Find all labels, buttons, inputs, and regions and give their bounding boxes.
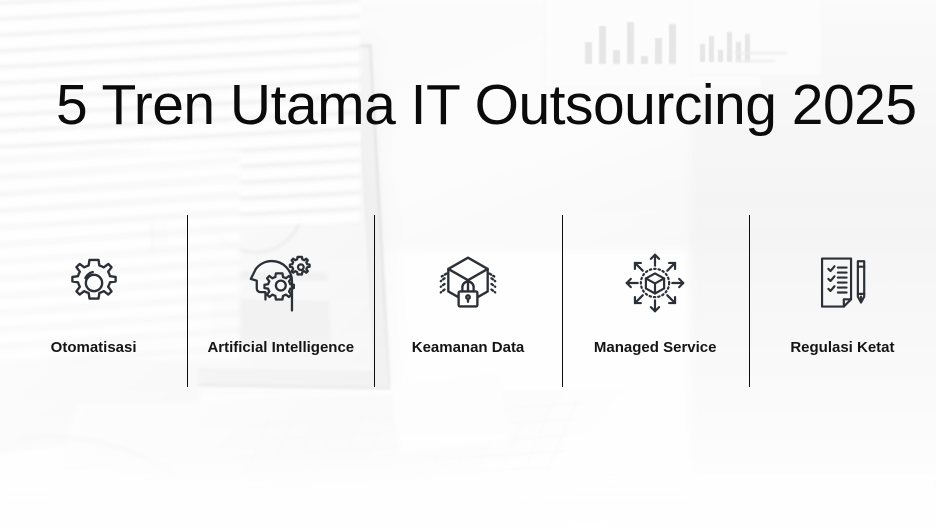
trend-label: Artificial Intelligence [207,339,354,356]
trend-item-managed-service[interactable]: Managed Service [562,215,749,387]
trend-item-artificial-intelligence[interactable]: Artificial Intelligence [187,215,374,387]
trend-item-otomatisasi[interactable]: Otomatisasi [0,215,187,387]
ai-head-gear-icon [249,233,313,333]
gear-icon [65,233,123,333]
trend-label: Keamanan Data [412,339,525,356]
slide-title: 5 Tren Utama IT Outsourcing 2025 [56,76,917,136]
trend-columns: Otomatisasi Artificial Intelligence [0,215,936,387]
slide-content: 5 Tren Utama IT Outsourcing 2025 Otomati… [0,0,936,528]
trend-label: Managed Service [594,339,717,356]
trend-item-regulasi-ketat[interactable]: Regulasi Ketat [749,215,936,387]
trend-item-keamanan-data[interactable]: Keamanan Data [374,215,561,387]
cube-lock-icon [437,233,499,333]
trend-label: Regulasi Ketat [790,339,894,356]
slide-canvas: 5 Tren Utama IT Outsourcing 2025 Otomati… [0,0,936,528]
cube-arrows-icon [624,233,686,333]
trend-label: Otomatisasi [51,339,137,356]
checklist-pencil-icon [813,233,871,333]
